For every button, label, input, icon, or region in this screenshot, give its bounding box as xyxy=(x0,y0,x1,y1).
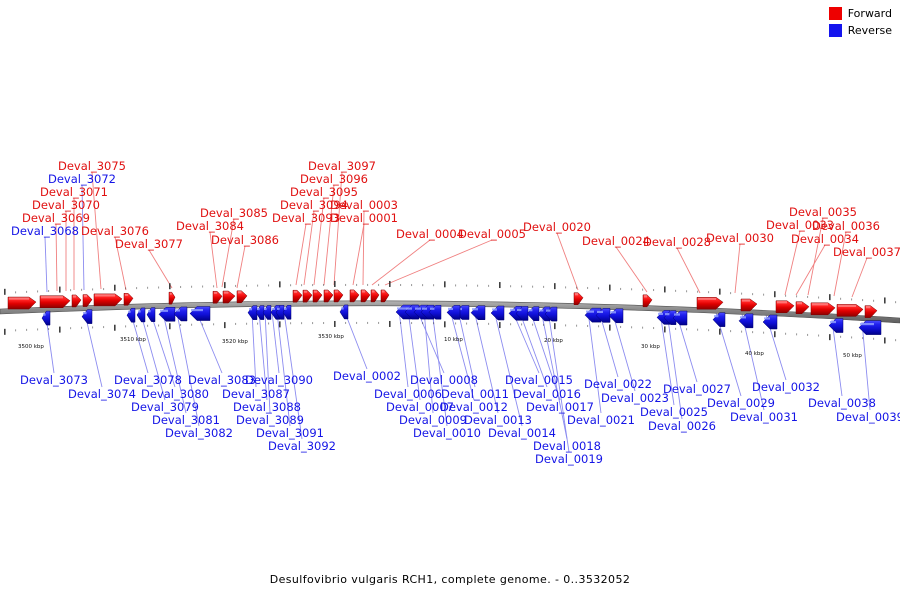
axis-tick-mark xyxy=(136,325,137,327)
axis-tick-mark xyxy=(301,284,302,286)
axis-tick-mark xyxy=(180,286,181,288)
axis-tick-label: 3510 kbp xyxy=(120,337,146,343)
gene-arrow-Deval_0029[interactable] xyxy=(713,313,725,327)
axis-tick-mark xyxy=(455,284,456,286)
axis-tick-mark xyxy=(741,331,742,333)
axis-tick-mark xyxy=(752,331,753,333)
axis-tick-label: 30 kbp xyxy=(641,344,660,350)
gene-highlight xyxy=(740,316,746,318)
axis-tick-mark xyxy=(378,322,379,324)
axis-tick-mark xyxy=(191,286,192,288)
axis-tick-mark xyxy=(334,321,336,327)
gene-label-Deval_0006[interactable]: Deval_0006 xyxy=(374,388,442,400)
genome-map-diagram: ForwardReverse Deval_3075Deval_3071Deval… xyxy=(0,0,900,600)
leader-line xyxy=(677,248,700,293)
gene-label-Deval_0016[interactable]: Deval_0016 xyxy=(513,388,581,400)
gene-highlight xyxy=(546,309,550,311)
gene-highlight xyxy=(160,310,168,312)
axis-tick-mark xyxy=(642,289,643,291)
gene-highlight xyxy=(335,290,338,292)
gene-highlight xyxy=(191,309,203,311)
axis-tick-mark xyxy=(224,282,226,288)
leader-line xyxy=(296,224,306,285)
axis-tick-mark xyxy=(400,322,401,324)
gene-highlight xyxy=(277,308,280,310)
axis-tick-mark xyxy=(301,322,302,324)
axis-tick-mark xyxy=(400,284,401,286)
gene-label-Deval_0014[interactable]: Deval_0014 xyxy=(488,427,556,439)
axis-tick-mark xyxy=(59,327,61,333)
gene-arrow-Deval_3077[interactable] xyxy=(169,292,175,304)
gene-label-Deval_3078[interactable]: Deval_3078 xyxy=(114,374,182,386)
axis-tick-mark xyxy=(840,298,841,300)
gene-arrow-Deval_0014[interactable] xyxy=(491,306,504,320)
legend-item-forward: Forward xyxy=(829,6,892,20)
gene-label-Deval_0030[interactable]: Deval_0030 xyxy=(706,232,774,244)
axis-tick-mark xyxy=(807,334,808,336)
gene-highlight xyxy=(492,308,497,310)
gene-highlight xyxy=(797,302,802,304)
axis-tick-mark xyxy=(598,287,599,289)
gene-label-Deval_0020[interactable]: Deval_0020 xyxy=(523,221,591,233)
gene-arrow-Deval_3073[interactable] xyxy=(42,311,50,325)
gene-highlight xyxy=(528,309,532,311)
gene-highlight xyxy=(341,307,344,309)
axis-tick-mark xyxy=(323,284,324,286)
gene-label-Deval_3086[interactable]: Deval_3086 xyxy=(211,234,279,246)
gene-arrow-Deval_3083[interactable] xyxy=(190,307,210,321)
gene-label-Deval_3089[interactable]: Deval_3089 xyxy=(236,414,304,426)
gene-highlight xyxy=(698,298,716,300)
axis-tick-mark xyxy=(444,321,446,327)
gene-highlight xyxy=(510,309,515,311)
axis-tick-mark xyxy=(543,286,544,288)
axis-tick-mark xyxy=(488,285,489,287)
axis-tick-mark xyxy=(719,329,721,335)
axis-tick-mark xyxy=(884,337,886,343)
gene-arrow-Deval_3074[interactable] xyxy=(82,310,92,324)
axis-tick-mark xyxy=(642,327,643,329)
gene-label-Deval_3073[interactable]: Deval_3073 xyxy=(20,374,88,386)
gene-label-Deval_3071[interactable]: Deval_3071 xyxy=(40,186,108,198)
gene-label-Deval_0039[interactable]: Deval_0039 xyxy=(836,411,900,423)
gene-highlight xyxy=(866,306,870,308)
axis-tick-mark xyxy=(587,325,588,327)
axis-tick-mark xyxy=(92,326,93,328)
gene-label-Deval_3084[interactable]: Deval_3084 xyxy=(176,220,244,232)
gene-label-Deval_0025[interactable]: Deval_0025 xyxy=(640,406,708,418)
gene-highlight xyxy=(95,294,115,296)
gene-highlight xyxy=(175,309,180,311)
gene-arrow-Deval_3087[interactable] xyxy=(248,306,257,320)
axis-tick-mark xyxy=(873,300,874,302)
gene-arrow-Deval_0038[interactable] xyxy=(829,319,843,333)
axis-tick-mark xyxy=(125,287,126,289)
gene-label-Deval_0003[interactable]: Deval_0003 xyxy=(330,199,398,211)
gene-highlight xyxy=(674,313,680,315)
axis-tick-mark xyxy=(411,322,412,324)
leader-line xyxy=(353,224,364,285)
gene-label-Deval_0001[interactable]: Deval_0001 xyxy=(330,212,398,224)
leader-line xyxy=(667,312,682,419)
gene-label-Deval_0015[interactable]: Deval_0015 xyxy=(505,374,573,386)
gene-label-Deval_3077[interactable]: Deval_3077 xyxy=(115,238,183,250)
axis-tick-mark xyxy=(290,284,291,286)
gene-highlight xyxy=(539,309,543,311)
legend-label-forward: Forward xyxy=(848,7,892,20)
leader-line xyxy=(557,233,578,290)
axis-tick-mark xyxy=(851,298,852,300)
gene-label-Deval_3069[interactable]: Deval_3069 xyxy=(22,212,90,224)
axis-tick-mark xyxy=(488,323,489,325)
axis-tick-mark xyxy=(213,323,214,325)
axis-tick-mark xyxy=(455,322,456,324)
gene-arrow-Deval_3082[interactable] xyxy=(174,307,187,321)
gene-label-Deval_3079[interactable]: Deval_3079 xyxy=(131,401,199,413)
axis-tick-mark xyxy=(708,329,709,331)
gene-highlight xyxy=(73,295,76,297)
axis-tick-mark xyxy=(202,324,203,326)
gene-track-reverse xyxy=(42,305,881,335)
axis-tick-label: 3530 kbp xyxy=(318,334,344,340)
axis-tick-mark xyxy=(565,324,566,326)
gene-label-Deval_3085[interactable]: Deval_3085 xyxy=(200,207,268,219)
gene-arrow-Deval_0031[interactable] xyxy=(739,314,753,328)
gene-arrow-Deval_0032[interactable] xyxy=(763,315,777,329)
axis-tick-mark xyxy=(213,285,214,287)
gene-highlight xyxy=(257,308,260,310)
axis-tick-mark xyxy=(411,284,412,286)
axis-tick-mark xyxy=(246,323,247,325)
legend-item-reverse: Reverse xyxy=(829,23,892,37)
axis-tick-mark xyxy=(224,322,226,328)
gene-label-Deval_3096[interactable]: Deval_3096 xyxy=(300,173,368,185)
axis-tick-mark xyxy=(697,291,698,293)
axis-tick-mark xyxy=(312,284,313,286)
gene-label-Deval_0021[interactable]: Deval_0021 xyxy=(567,414,635,426)
gene-label-Deval_0038[interactable]: Deval_0038 xyxy=(808,397,876,409)
axis-tick-mark xyxy=(378,284,379,286)
gene-label-Deval_0010[interactable]: Deval_0010 xyxy=(413,427,481,439)
gene-label-Deval_3072[interactable]: Deval_3072 xyxy=(48,173,116,185)
gene-highlight xyxy=(644,295,647,297)
axis-tick-mark xyxy=(785,333,786,335)
axis-tick-mark xyxy=(598,325,599,327)
gene-label-Deval_0037[interactable]: Deval_0037 xyxy=(833,246,900,258)
axis-tick-mark xyxy=(136,287,137,289)
gene-label-Deval_3076[interactable]: Deval_3076 xyxy=(81,225,149,237)
axis-tick-label: 3500 kbp xyxy=(18,344,44,350)
axis-tick-mark xyxy=(356,284,357,286)
axis-tick-mark xyxy=(70,289,71,291)
gene-highlight xyxy=(284,308,287,310)
axis-tick-mark xyxy=(125,325,126,327)
gene-label-Deval_3070[interactable]: Deval_3070 xyxy=(32,199,100,211)
leader-line xyxy=(735,244,740,293)
axis-tick-mark xyxy=(433,284,434,286)
axis-tick-mark xyxy=(862,337,863,339)
gene-label-Deval_3087[interactable]: Deval_3087 xyxy=(222,388,290,400)
leader-line xyxy=(796,245,825,295)
gene-highlight xyxy=(362,290,365,292)
gene-label-Deval_0019[interactable]: Deval_0019 xyxy=(535,453,603,465)
axis-tick-mark xyxy=(510,323,511,325)
axis-tick-mark xyxy=(345,284,346,286)
axis-tick-mark xyxy=(169,323,171,329)
gene-label-Deval_0012[interactable]: Deval_0012 xyxy=(440,401,508,413)
gene-label-Deval_3075[interactable]: Deval_3075 xyxy=(58,160,126,172)
gene-highlight xyxy=(84,295,87,297)
gene-label-Deval_0018[interactable]: Deval_0018 xyxy=(533,440,601,452)
axis-tick-mark xyxy=(818,335,819,337)
leader-line xyxy=(197,313,222,373)
axis-tick-mark xyxy=(829,334,831,340)
axis-tick-mark xyxy=(554,283,556,289)
axis-tick-mark xyxy=(796,333,797,335)
gene-highlight xyxy=(351,290,354,292)
axis-tick-mark xyxy=(422,322,423,324)
gene-highlight xyxy=(170,293,172,295)
gene-label-Deval_3091[interactable]: Deval_3091 xyxy=(256,427,324,439)
axis-tick-mark xyxy=(92,288,93,290)
axis-tick-mark xyxy=(191,324,192,326)
gene-label-Deval_0011[interactable]: Deval_0011 xyxy=(441,388,509,400)
axis-tick-mark xyxy=(290,322,291,324)
gene-arrow-Deval_0012[interactable] xyxy=(447,305,460,319)
axis-tick-mark xyxy=(279,281,281,287)
axis-tick-mark xyxy=(114,285,116,291)
axis-tick-mark xyxy=(48,290,49,292)
gene-highlight xyxy=(304,291,307,293)
axis-tick-mark xyxy=(576,287,577,289)
gene-label-Deval_0013[interactable]: Deval_0013 xyxy=(464,414,532,426)
leader-line xyxy=(616,247,647,292)
axis-tick-mark xyxy=(389,321,391,327)
axis-tick-mark xyxy=(15,291,16,293)
axis-tick-mark xyxy=(818,297,819,299)
axis-tick-mark xyxy=(158,325,159,327)
gene-label-Deval_3080[interactable]: Deval_3080 xyxy=(141,388,209,400)
axis-tick-mark xyxy=(796,295,797,297)
gene-label-Deval_3088[interactable]: Deval_3088 xyxy=(233,401,301,413)
gene-label-Deval_0031[interactable]: Deval_0031 xyxy=(730,411,798,423)
leader-line xyxy=(86,318,102,387)
axis-tick-mark xyxy=(26,291,27,293)
axis-tick-mark xyxy=(686,328,687,330)
gene-arrow-Deval_3079[interactable] xyxy=(137,308,145,322)
gene-label-Deval_0017[interactable]: Deval_0017 xyxy=(526,401,594,413)
gene-label-Deval_3074[interactable]: Deval_3074 xyxy=(68,388,136,400)
axis-tick-mark xyxy=(895,301,896,303)
axis-tick-mark xyxy=(103,288,104,290)
axis-tick-mark xyxy=(675,328,676,330)
axis-tick-mark xyxy=(356,322,357,324)
axis-tick-mark xyxy=(37,290,38,292)
leader-line xyxy=(45,237,47,292)
gene-highlight xyxy=(128,311,131,313)
gene-highlight xyxy=(448,308,453,310)
axis-tick-mark xyxy=(48,328,49,330)
axis-tick-mark xyxy=(312,322,313,324)
axis-tick-mark xyxy=(147,325,148,327)
axis-tick-mark xyxy=(268,284,269,286)
gene-highlight xyxy=(742,299,750,301)
axis-tick-mark xyxy=(664,286,666,292)
axis-tick-mark xyxy=(180,324,181,326)
axis-tick-mark xyxy=(499,282,501,288)
gene-highlight xyxy=(764,317,770,319)
axis-tick-mark xyxy=(268,322,269,324)
axis-tick-mark xyxy=(763,294,764,296)
axis-tick-mark xyxy=(862,299,863,301)
gene-highlight xyxy=(249,308,252,310)
legend-label-reverse: Reverse xyxy=(848,24,892,37)
genome-map-canvas xyxy=(0,0,900,600)
axis-tick-mark xyxy=(147,287,148,289)
gene-highlight xyxy=(224,291,228,293)
axis-tick-mark xyxy=(444,281,446,287)
axis-tick-label: 50 kbp xyxy=(843,353,862,359)
axis-tick-mark xyxy=(653,327,654,329)
axis-tick-mark xyxy=(884,297,886,303)
axis-tick-mark xyxy=(202,286,203,288)
axis-tick-mark xyxy=(763,332,764,334)
gene-arrow-Deval_0002[interactable] xyxy=(340,305,348,319)
gene-label-Deval_3082[interactable]: Deval_3082 xyxy=(165,427,233,439)
gene-label-Deval_0009[interactable]: Deval_0009 xyxy=(399,414,467,426)
axis-tick-mark xyxy=(697,329,698,331)
gene-label-Deval_0008[interactable]: Deval_0008 xyxy=(410,374,478,386)
axis-tick-mark xyxy=(521,285,522,287)
axis-tick-mark xyxy=(620,288,621,290)
gene-label-Deval_0036[interactable]: Deval_0036 xyxy=(812,220,880,232)
gene-label-Deval_3068[interactable]: Deval_3068 xyxy=(11,225,79,237)
gene-highlight xyxy=(586,311,594,313)
gene-highlight xyxy=(597,311,603,313)
reverse-swatch-icon xyxy=(829,24,842,37)
axis-tick-mark xyxy=(334,281,336,287)
axis-tick-mark xyxy=(81,289,82,291)
gene-label-Deval_0028[interactable]: Deval_0028 xyxy=(643,236,711,248)
axis-tick-mark xyxy=(70,327,71,329)
gene-label-Deval_0027[interactable]: Deval_0027 xyxy=(663,383,731,395)
axis-tick-mark xyxy=(565,286,566,288)
gene-label-Deval_0024[interactable]: Deval_0024 xyxy=(582,235,650,247)
gene-highlight xyxy=(812,303,828,305)
gene-highlight xyxy=(517,309,521,311)
axis-tick-mark xyxy=(851,336,852,338)
axis-tick-mark xyxy=(81,327,82,329)
axis-tick-mark xyxy=(279,321,281,327)
gene-label-Deval_3090[interactable]: Deval_3090 xyxy=(245,374,313,386)
gene-label-Deval_3081[interactable]: Deval_3081 xyxy=(152,414,220,426)
axis-tick-mark xyxy=(422,284,423,286)
gene-highlight xyxy=(372,290,375,292)
axis-tick-mark xyxy=(26,329,27,331)
gene-label-Deval_0035[interactable]: Deval_0035 xyxy=(789,206,857,218)
gene-label-Deval_0023[interactable]: Deval_0023 xyxy=(601,392,669,404)
axis-tick-mark xyxy=(774,331,776,337)
gene-label-Deval_0034[interactable]: Deval_0034 xyxy=(791,233,859,245)
gene-highlight xyxy=(272,308,275,310)
axis-tick-mark xyxy=(433,322,434,324)
gene-arrow-Deval_0023[interactable] xyxy=(609,309,623,323)
gene-highlight xyxy=(43,313,46,315)
axis-tick-mark xyxy=(466,323,467,325)
axis-tick-mark xyxy=(653,289,654,291)
axis-tick-mark xyxy=(323,322,324,324)
gene-highlight xyxy=(430,308,434,310)
axis-tick-mark xyxy=(609,325,611,331)
axis-tick-label: 20 kbp xyxy=(544,338,563,344)
gene-arrow-Deval_0013[interactable] xyxy=(471,306,485,320)
axis-tick-mark xyxy=(719,289,721,295)
gene-highlight xyxy=(714,315,718,317)
axis-tick-mark xyxy=(587,287,588,289)
axis-tick-mark xyxy=(114,325,116,331)
gene-label-Deval_0005[interactable]: Deval_0005 xyxy=(458,228,526,240)
gene-arrow-Deval_3078[interactable] xyxy=(127,308,135,322)
gene-arrow-Deval_3081[interactable] xyxy=(159,307,175,321)
axis-tick-mark xyxy=(367,322,368,324)
axis-tick-mark xyxy=(829,294,831,300)
axis-tick-label: 40 kbp xyxy=(745,351,764,357)
axis-tick-mark xyxy=(235,285,236,287)
axis-tick-mark xyxy=(675,290,676,292)
axis-tick-mark xyxy=(554,323,556,329)
gene-highlight xyxy=(658,313,663,315)
gene-highlight xyxy=(125,294,128,296)
axis-tick-mark xyxy=(532,324,533,326)
gene-highlight xyxy=(138,310,141,312)
axis-tick-mark xyxy=(631,288,632,290)
gene-arrow-Deval_0017[interactable] xyxy=(527,307,539,321)
gene-highlight xyxy=(314,290,317,292)
gene-label-Deval_0002[interactable]: Deval_0002 xyxy=(333,370,401,382)
axis-tick-mark xyxy=(895,339,896,341)
axis-tick-mark xyxy=(345,322,346,324)
axis-tick-mark xyxy=(774,291,776,297)
axis-tick-mark xyxy=(609,285,611,291)
gene-highlight xyxy=(415,308,421,310)
gene-label-Deval_3092[interactable]: Deval_3092 xyxy=(268,440,336,452)
gene-label-Deval_3095[interactable]: Deval_3095 xyxy=(290,186,358,198)
axis-tick-mark xyxy=(169,283,171,289)
axis-tick-mark xyxy=(257,323,258,325)
gene-label-Deval_0004[interactable]: Deval_0004 xyxy=(396,228,464,240)
gene-highlight xyxy=(777,301,787,303)
axis-tick-mark xyxy=(59,287,61,293)
axis-tick-mark xyxy=(741,293,742,295)
gene-label-Deval_0032[interactable]: Deval_0032 xyxy=(752,381,820,393)
gene-highlight xyxy=(382,290,385,292)
gene-label-Deval_0029[interactable]: Deval_0029 xyxy=(707,397,775,409)
axis-tick-mark xyxy=(158,287,159,289)
leader-line xyxy=(131,314,148,373)
axis-tick-mark xyxy=(510,285,511,287)
gene-arrow-Deval_3080[interactable] xyxy=(147,308,155,322)
gene-highlight xyxy=(422,308,427,310)
gene-highlight xyxy=(264,308,267,310)
gene-label-Deval_3097[interactable]: Deval_3097 xyxy=(308,160,376,172)
gene-label-Deval_0022[interactable]: Deval_0022 xyxy=(584,378,652,390)
gene-highlight xyxy=(860,323,874,325)
forward-swatch-icon xyxy=(829,7,842,20)
gene-label-Deval_0026[interactable]: Deval_0026 xyxy=(648,420,716,432)
axis-tick-mark xyxy=(15,329,16,331)
axis-tick-mark xyxy=(466,285,467,287)
axis-tick-mark xyxy=(752,293,753,295)
